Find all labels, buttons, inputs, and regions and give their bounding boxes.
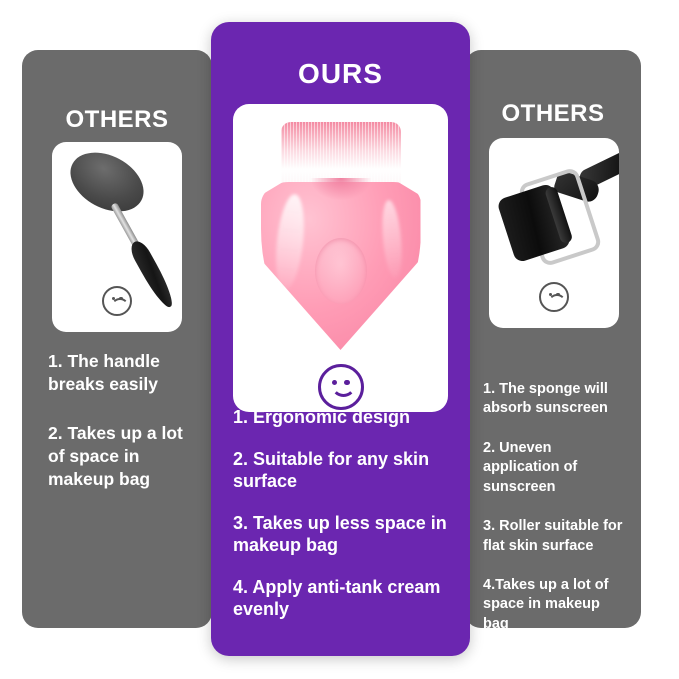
others-right-drawback-list: 1. The sponge will absorb sunscreen 2. U…: [483, 380, 629, 634]
list-item: 1. The sponge will absorb sunscreen: [483, 380, 629, 419]
heart-dimple: [315, 238, 367, 304]
ours-panel: OURS 1. Ergonomic design 2. Suitable for…: [211, 22, 470, 656]
sad-face-icon: [539, 282, 569, 312]
ours-title: OURS: [211, 58, 470, 90]
others-right-title: OTHERS: [465, 100, 641, 128]
ours-feature-list: 1. Ergonomic design 2. Suitable for any …: [233, 407, 459, 621]
sad-face-mouth: [548, 294, 566, 304]
comparison-infographic: OTHERS 1. The handle breaks easily 2. Ta…: [0, 0, 679, 679]
others-left-panel: OTHERS 1. The handle breaks easily 2. Ta…: [22, 50, 212, 628]
list-item: 1. The handle breaks easily: [48, 350, 198, 396]
list-item: 4.Takes up a lot of space in makeup bag: [483, 576, 629, 634]
others-right-product-card: [489, 138, 619, 328]
list-item: 1. Ergonomic design: [233, 407, 459, 429]
ours-product-card: [233, 104, 448, 412]
brush-head: [60, 142, 153, 223]
others-right-panel: OTHERS 1. The sponge will absorb sunscre…: [465, 50, 641, 628]
list-item: 2. Suitable for any skin surface: [233, 449, 459, 493]
others-left-drawback-list: 1. The handle breaks easily 2. Takes up …: [48, 350, 198, 491]
list-item: 2. Takes up a lot of space in makeup bag: [48, 422, 198, 491]
happy-face-mouth: [331, 383, 356, 397]
pink-heart-makeup-brush-image: [255, 120, 427, 392]
list-item: 4. Apply anti-tank cream evenly: [233, 577, 459, 621]
happy-face-icon: [318, 364, 364, 410]
list-item: 2. Uneven application of sunscreen: [483, 439, 629, 497]
brush-handle: [127, 238, 178, 311]
list-item: 3. Roller suitable for flat skin surface: [483, 517, 629, 556]
sad-face-mouth: [111, 298, 129, 308]
others-left-title: OTHERS: [22, 106, 212, 134]
list-item: 3. Takes up less space in makeup bag: [233, 513, 459, 557]
sad-face-icon: [102, 286, 132, 316]
others-left-product-card: [52, 142, 182, 332]
